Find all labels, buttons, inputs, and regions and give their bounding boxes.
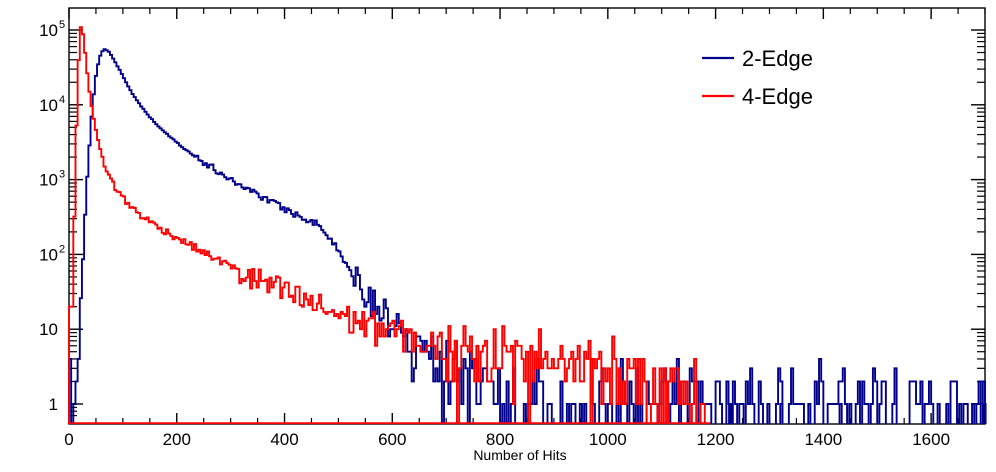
x-tick-label: 1200 [697, 430, 735, 449]
y-tick-label: 10 [39, 171, 58, 190]
y-tick-exponent: 5 [59, 19, 65, 31]
data-series-layer [69, 27, 986, 424]
y-tick-exponent: 4 [59, 94, 65, 106]
x-axis-title: Number of Hits [473, 447, 566, 463]
tail-spike [780, 404, 782, 424]
legend-label-4-edge: 4-Edge [742, 84, 813, 109]
x-tick-label: 400 [270, 430, 298, 449]
legend-label-2-edge: 2-Edge [742, 46, 813, 71]
x-tick-label: 1600 [912, 430, 950, 449]
chart-canvas: 110102103104105 020040060080010001200140… [0, 0, 996, 472]
tail-spike [840, 404, 842, 424]
x-tick-label: 200 [163, 430, 191, 449]
histogram-plot: 110102103104105 020040060080010001200140… [0, 0, 996, 472]
plot-frame [69, 8, 985, 424]
x-tick-label: 0 [64, 430, 73, 449]
x-tick-label: 1400 [804, 430, 842, 449]
chart-legend: 2-Edge4-Edge [702, 46, 813, 109]
y-tick-label: 1 [49, 395, 58, 414]
series-line-4-edge [69, 27, 705, 424]
y-tick-exponent: 3 [59, 169, 65, 181]
y-tick-label: 10 [39, 320, 58, 339]
y-tick-exponent: 2 [59, 243, 65, 255]
y-tick-label: 10 [39, 245, 58, 264]
x-tick-label: 1000 [589, 430, 627, 449]
y-axis-ticks [69, 30, 985, 416]
x-axis-ticks [69, 8, 985, 424]
y-axis-tick-labels: 110102103104105 [39, 19, 65, 414]
x-tick-label: 600 [378, 430, 406, 449]
y-tick-label: 10 [39, 96, 58, 115]
y-tick-label: 10 [39, 21, 58, 40]
series-line-2-edge [69, 49, 985, 424]
